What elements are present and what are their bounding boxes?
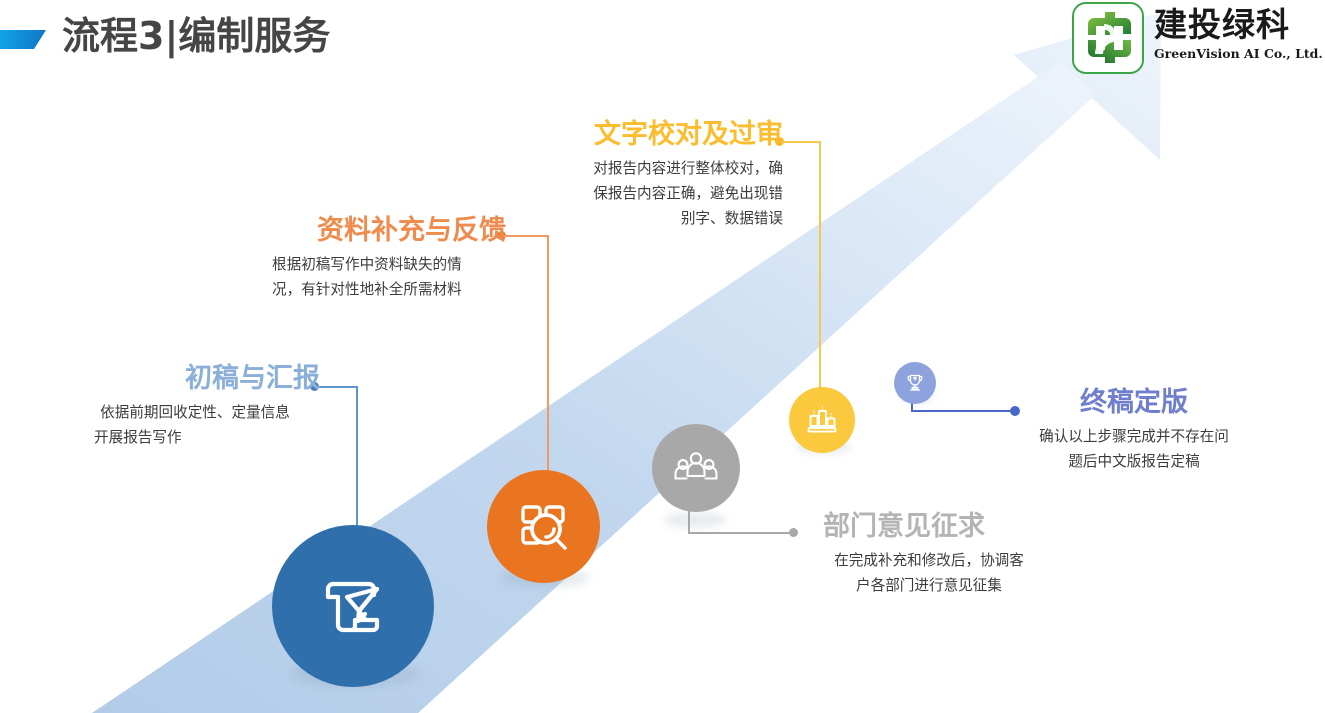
step-3-body-line-1: 对报告内容进行整体校对，确 xyxy=(535,156,783,181)
step-3-body-line-3: 别字、数据错误 xyxy=(535,206,783,231)
connector-line-v-step-2 xyxy=(547,235,549,471)
connector-line-h-step-2 xyxy=(503,235,549,237)
connector-dot-step-4 xyxy=(789,528,798,537)
step-2-body-line-2: 况，有针对性地补全所需材料 xyxy=(258,277,506,302)
scroll-paper-plane-icon xyxy=(311,564,395,648)
step-1-title: 初稿与汇报 xyxy=(70,362,320,396)
connector-line-v-step-1 xyxy=(356,386,358,536)
step-5-text: 终稿定版 确认以上步骤完成并不存在问 题后中文版报告定稿 xyxy=(1010,386,1258,474)
brand-logo: 建投绿科 GreenVision AI Co., Ltd. xyxy=(1072,2,1320,80)
title-marker-icon xyxy=(0,30,46,49)
step-4-text: 部门意见征求 在完成补充和修改后，协调客 户各部门进行意见征集 xyxy=(805,510,1053,598)
step-5-icon-circle[interactable] xyxy=(894,362,936,404)
page-title: 流程3|编制服务 xyxy=(62,10,330,62)
greenvision-logo-icon xyxy=(1072,2,1144,74)
step-1-body: 依据前期回收定性、定量信息 开展报告写作 xyxy=(70,400,320,450)
step-5-body-line-1: 确认以上步骤完成并不存在问 xyxy=(1010,424,1258,449)
logo-text: 建投绿科 GreenVision AI Co., Ltd. xyxy=(1154,4,1320,62)
connector-line-v-step-3 xyxy=(819,141,821,392)
trophy-award-icon xyxy=(903,371,927,395)
step-1-body-line-1: 依据前期回收定性、定量信息 xyxy=(70,400,320,425)
step-3-icon-circle[interactable]: 1 2 3 xyxy=(789,387,855,453)
connector-line-h-step-3 xyxy=(781,141,821,143)
connector-line-h-step-5 xyxy=(911,410,1012,412)
step-5-body-line-2: 题后中文版报告定稿 xyxy=(1010,449,1258,474)
step-4-title: 部门意见征求 xyxy=(805,510,1053,544)
step-3-body-line-2: 保报告内容正确，避免出现错 xyxy=(535,181,783,206)
step-2-text: 资料补充与反馈 根据初稿写作中资料缺失的情 况，有针对性地补全所需材料 xyxy=(258,214,506,302)
step-2-icon-circle[interactable] xyxy=(487,470,600,583)
step-4-body-line-1: 在完成补充和修改后，协调客 xyxy=(805,548,1053,573)
slide-canvas: 流程3|编制服务 建投绿科 xyxy=(0,0,1325,713)
step-4-body: 在完成补充和修改后，协调客 户各部门进行意见征集 xyxy=(805,548,1053,598)
logo-name-cn: 建投绿科 xyxy=(1154,4,1320,46)
step-3-text: 文字校对及过审 对报告内容进行整体校对，确 保报告内容正确，避免出现错 别字、数… xyxy=(535,118,783,231)
podium-ranking-icon: 1 2 3 xyxy=(802,400,842,440)
step-3-title: 文字校对及过审 xyxy=(535,118,783,152)
connector-line-h-step-1 xyxy=(316,386,358,388)
step-1-icon-circle[interactable] xyxy=(272,525,434,687)
step-1-body-line-2: 开展报告写作 xyxy=(70,425,320,450)
step-5-title: 终稿定版 xyxy=(1010,386,1258,420)
grid-magnifier-search-icon xyxy=(513,496,575,558)
step-3-body: 对报告内容进行整体校对，确 保报告内容正确，避免出现错 别字、数据错误 xyxy=(535,156,783,231)
step-2-body: 根据初稿写作中资料缺失的情 况，有针对性地补全所需材料 xyxy=(258,252,506,302)
logo-name-en: GreenVision AI Co., Ltd. xyxy=(1154,46,1320,62)
step-2-title: 资料补充与反馈 xyxy=(258,214,506,248)
step-5-body: 确认以上步骤完成并不存在问 题后中文版报告定稿 xyxy=(1010,424,1258,474)
step-2-body-line-1: 根据初稿写作中资料缺失的情 xyxy=(258,252,506,277)
background-arrow xyxy=(0,0,1325,713)
svg-text:1: 1 xyxy=(821,405,824,411)
step-4-icon-circle[interactable] xyxy=(652,424,740,512)
svg-text:2: 2 xyxy=(812,410,815,416)
step-4-body-line-2: 户各部门进行意见征集 xyxy=(805,573,1053,598)
svg-text:3: 3 xyxy=(829,413,832,419)
step-1-text: 初稿与汇报 依据前期回收定性、定量信息 开展报告写作 xyxy=(70,362,320,450)
connector-line-h-step-4 xyxy=(688,532,792,534)
people-group-icon xyxy=(671,443,721,493)
